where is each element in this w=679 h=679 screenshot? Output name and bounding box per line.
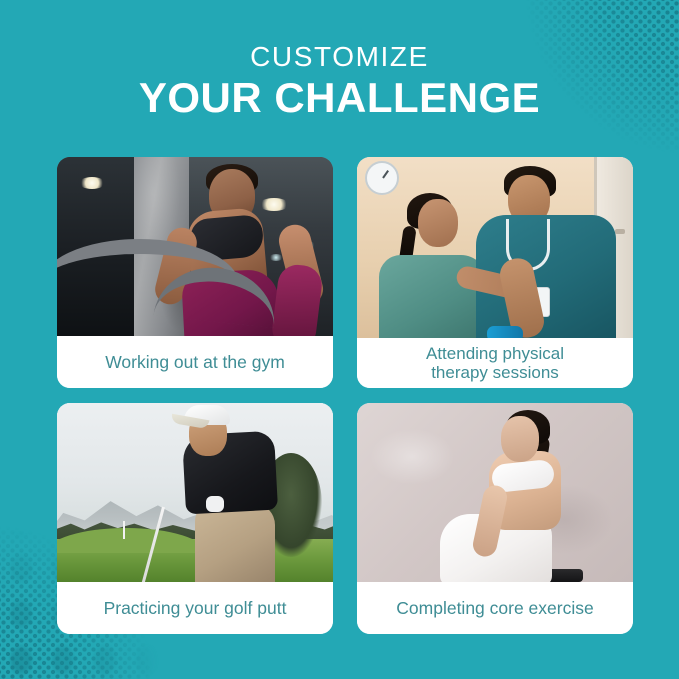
challenge-card-physical-therapy[interactable]: Attending physical therapy sessions <box>357 157 633 388</box>
challenge-card-grid: Working out at the gym <box>57 157 633 634</box>
challenge-poster: CUSTOMIZE YOUR CHALLENGE <box>0 0 679 679</box>
card-caption-physical-therapy-line1: Attending physical <box>426 344 564 363</box>
challenge-card-gym[interactable]: Working out at the gym <box>57 157 333 388</box>
card-caption-physical-therapy: Attending physical therapy sessions <box>357 338 633 388</box>
card-caption-physical-therapy-line2: therapy sessions <box>431 363 559 382</box>
gym-battle-ropes-photo <box>57 157 333 336</box>
card-caption-gym: Working out at the gym <box>57 336 333 388</box>
page-title-line1: CUSTOMIZE <box>0 40 679 74</box>
poster-header: CUSTOMIZE YOUR CHALLENGE <box>0 40 679 122</box>
golf-putt-photo <box>57 403 333 582</box>
challenge-card-golf[interactable]: Practicing your golf putt <box>57 403 333 634</box>
card-caption-core-exercise: Completing core exercise <box>357 582 633 634</box>
page-title-line2: YOUR CHALLENGE <box>0 74 679 122</box>
card-caption-golf: Practicing your golf putt <box>57 582 333 634</box>
core-exercise-photo <box>357 403 633 582</box>
physical-therapy-photo <box>357 157 633 338</box>
challenge-card-core-exercise[interactable]: Completing core exercise <box>357 403 633 634</box>
wall-clock-icon <box>365 161 399 195</box>
